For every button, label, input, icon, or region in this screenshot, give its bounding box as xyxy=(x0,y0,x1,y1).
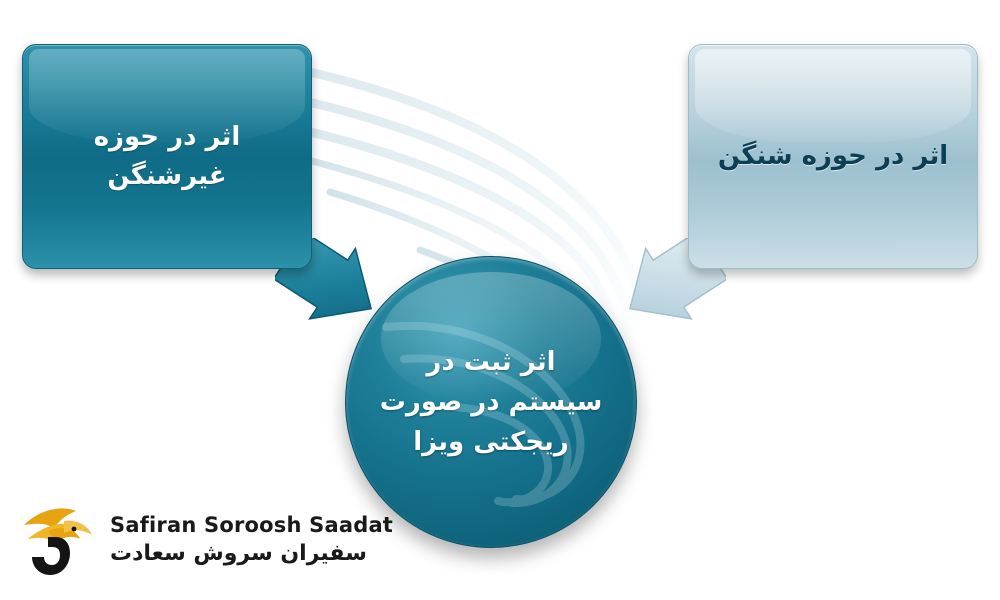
eagle-logo-icon xyxy=(18,495,106,581)
node-center-circle[interactable]: اثر ثبت در سیستم در صورت ریجکتی ویزا xyxy=(345,256,637,548)
diagram-canvas: اثر در حوزه غیرشنگن اثر در حوزه شنگن اثر… xyxy=(0,0,1000,600)
node-left-box[interactable]: اثر در حوزه غیرشنگن xyxy=(22,44,312,269)
node-right-box-label: اثر در حوزه شنگن xyxy=(718,137,948,176)
node-right-box[interactable]: اثر در حوزه شنگن xyxy=(688,44,978,269)
brand-logo: Safiran Soroosh Saadat سفیران سروش سعادت xyxy=(18,495,338,585)
node-left-box-label: اثر در حوزه غیرشنگن xyxy=(41,118,293,196)
node-center-circle-label: اثر ثبت در سیستم در صورت ریجکتی ویزا xyxy=(376,342,606,463)
logo-name-fa: سفیران سروش سعادت xyxy=(110,541,367,566)
logo-name-en: Safiran Soroosh Saadat xyxy=(110,513,393,537)
